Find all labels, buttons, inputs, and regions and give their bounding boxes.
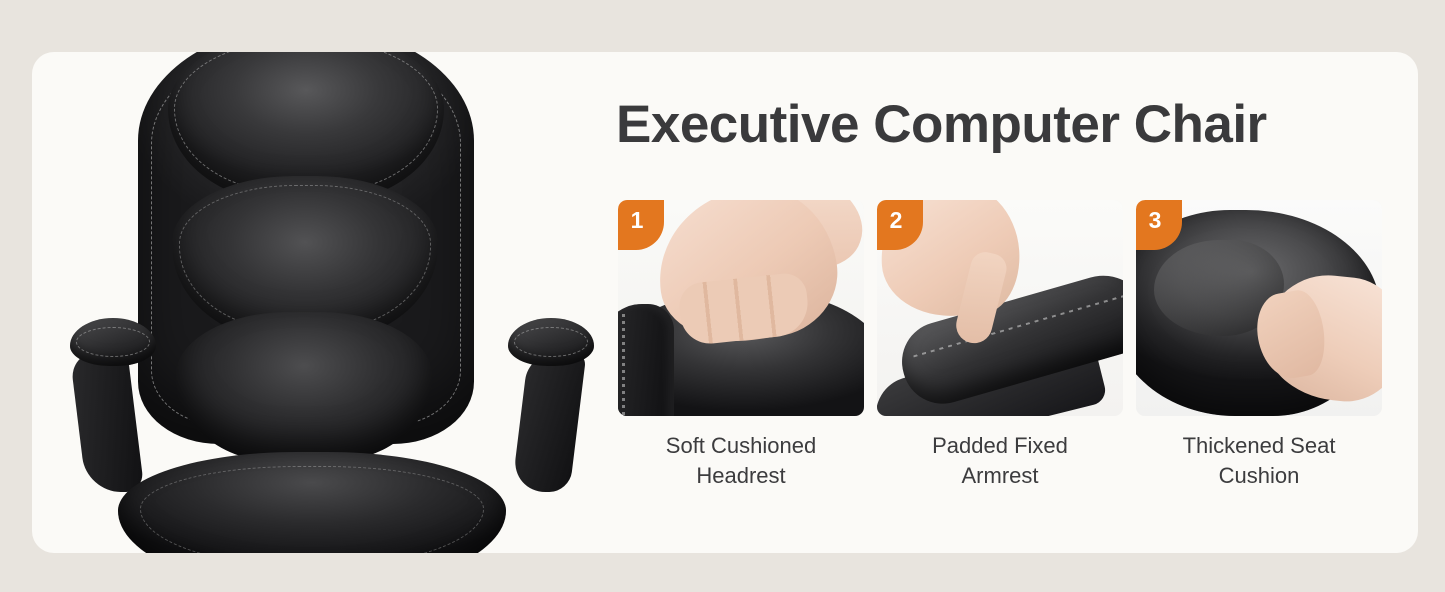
feature-thumbnail-seat-cushion[interactable]: 3 xyxy=(1136,200,1382,416)
feature-caption-armrest: Padded Fixed Armrest xyxy=(877,431,1123,490)
feature-list: 1 Soft Cushioned Headrest 2 P xyxy=(618,200,1384,490)
feature-caption-headrest: Soft Cushioned Headrest xyxy=(618,431,864,490)
feature-item-armrest: 2 Padded Fixed Armrest xyxy=(877,200,1123,490)
product-banner: Executive Computer Chair 1 Soft Cushione… xyxy=(0,0,1445,592)
feature-thumbnail-armrest[interactable]: 2 xyxy=(877,200,1123,416)
feature-thumbnail-headrest[interactable]: 1 xyxy=(618,200,864,416)
caption-line-2: Headrest xyxy=(618,461,864,491)
caption-line-1: Padded Fixed xyxy=(877,431,1123,461)
caption-line-2: Armrest xyxy=(877,461,1123,491)
feature-caption-seat-cushion: Thickened Seat Cushion xyxy=(1136,431,1382,490)
caption-line-1: Thickened Seat xyxy=(1136,431,1382,461)
headrest-side-bolster xyxy=(618,304,674,416)
caption-line-1: Soft Cushioned xyxy=(618,431,864,461)
feature-item-seat-cushion: 3 Thickened Seat Cushion xyxy=(1136,200,1382,490)
caption-line-2: Cushion xyxy=(1136,461,1382,491)
page-title: Executive Computer Chair xyxy=(616,98,1402,151)
content-panel: Executive Computer Chair 1 Soft Cushione… xyxy=(600,52,1418,553)
feature-item-headrest: 1 Soft Cushioned Headrest xyxy=(618,200,864,490)
